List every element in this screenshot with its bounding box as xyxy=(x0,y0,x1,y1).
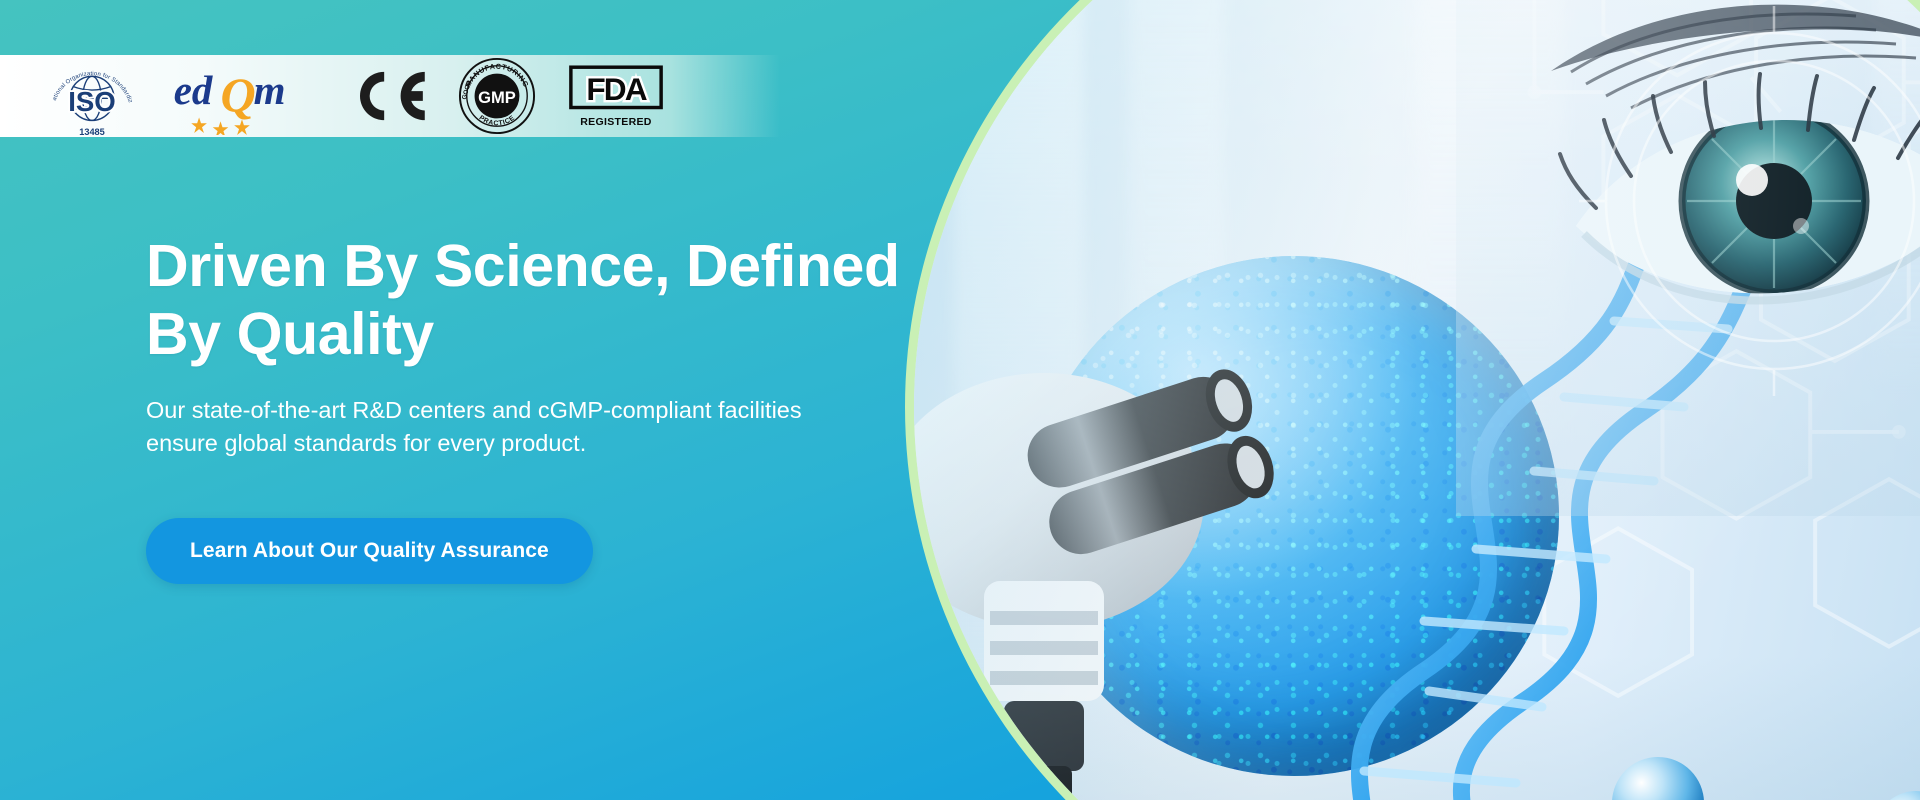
certification-strip: International Organization for Standardi… xyxy=(0,55,780,137)
hero-media-inner xyxy=(914,0,1920,800)
fda-sub-text: REGISTERED xyxy=(580,116,652,128)
microscope-icon xyxy=(914,311,1404,800)
hero-banner: International Organization for Standardi… xyxy=(0,0,1920,800)
fda-registered-icon: FDA REGISTERED xyxy=(568,61,664,131)
hero-content: Driven By Science, Defined By Quality Ou… xyxy=(146,232,936,584)
edqm-part-1: ed xyxy=(174,68,213,113)
cert-logo-fda-registered: FDA REGISTERED xyxy=(568,61,664,131)
cert-logo-edqm: ed Q m xyxy=(166,57,316,135)
edqm-part-2: Q xyxy=(221,69,256,123)
fda-mark-text: FDA xyxy=(586,71,647,107)
hero-media-panel xyxy=(905,0,1920,800)
human-eye-icon xyxy=(1456,0,1920,516)
page-title: Driven By Science, Defined By Quality xyxy=(146,232,906,369)
cert-logo-ce: CE xyxy=(350,67,428,125)
iso-mark-text: ISO xyxy=(68,86,116,117)
cert-logo-iso-13485: International Organization for Standardi… xyxy=(44,54,140,139)
iso-number-text: 13485 xyxy=(79,127,105,137)
gmp-mark-text: GMP xyxy=(478,88,516,107)
hero-subcopy: Our state-of-the-art R&D centers and cGM… xyxy=(146,394,846,461)
molecule-spheres-icon xyxy=(1566,683,1920,800)
iso-globe-icon: International Organization for Standardi… xyxy=(46,54,138,139)
learn-about-quality-assurance-button[interactable]: Learn About Our Quality Assurance xyxy=(146,518,593,584)
gmp-seal-icon: MANUFACTURING PRACTICE GOOD GMP xyxy=(458,57,536,135)
cert-logo-gmp: MANUFACTURING PRACTICE GOOD GMP xyxy=(458,57,536,135)
edqm-wordmark-icon: ed Q m xyxy=(167,57,315,135)
edqm-part-3: m xyxy=(254,68,286,113)
ce-mark-icon: CE xyxy=(351,67,427,125)
